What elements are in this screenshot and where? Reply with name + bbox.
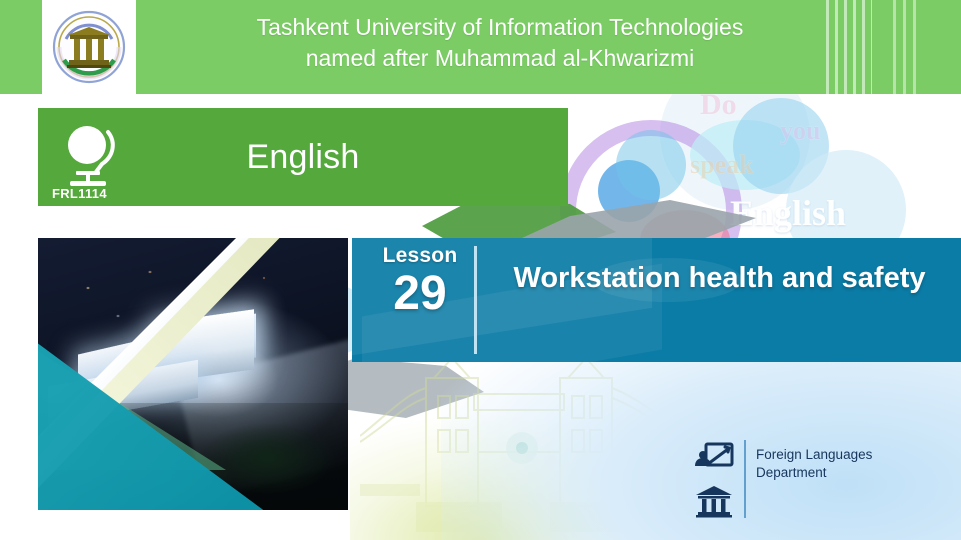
decorative-blob — [733, 98, 829, 194]
lesson-banner: Lesson 29 Workstation health and safety — [352, 238, 961, 362]
subject-name: English — [38, 108, 568, 206]
course-code: FRL1114 — [52, 186, 107, 201]
university-logo — [42, 0, 136, 94]
watermark-english: English — [730, 192, 846, 234]
presentation-slide: Do you speak English — [0, 0, 961, 540]
subject-bar: English FRL1114 — [38, 108, 568, 206]
slide-header: Tashkent University of Information Techn… — [0, 0, 961, 94]
lesson-number-block: Lesson 29 — [370, 244, 470, 320]
department-name-line1: Foreign Languages — [756, 446, 916, 464]
tower-bridge-watermark — [360, 352, 690, 540]
presentation-board-icon — [694, 442, 734, 476]
decorative-blob — [598, 160, 660, 222]
watermark-speak: speak — [690, 150, 754, 180]
bank-building-icon — [694, 484, 734, 518]
decorative-blob — [690, 120, 800, 190]
department-name: Foreign Languages Department — [756, 446, 916, 482]
decorative-blob — [616, 130, 686, 200]
banner-divider — [474, 246, 477, 354]
department-block: Foreign Languages Department — [694, 438, 914, 520]
department-name-line2: Department — [756, 464, 916, 482]
department-icons — [694, 438, 738, 520]
university-campus-night-photo — [38, 238, 348, 510]
university-name-line1: Tashkent University of Information Techn… — [190, 12, 810, 43]
university-name: Tashkent University of Information Techn… — [190, 12, 810, 74]
lesson-number: 29 — [370, 268, 470, 320]
header-stripes — [893, 0, 923, 96]
university-emblem-icon — [52, 10, 126, 84]
university-name-line2: named after Muhammad al-Khwarizmi — [190, 43, 810, 74]
lesson-label: Lesson — [370, 244, 470, 268]
department-divider — [744, 440, 746, 518]
lesson-title: Workstation health and safety — [492, 258, 947, 299]
bottom-left-glow — [350, 370, 680, 540]
header-stripes — [826, 0, 872, 96]
watermark-you: you — [780, 116, 820, 146]
